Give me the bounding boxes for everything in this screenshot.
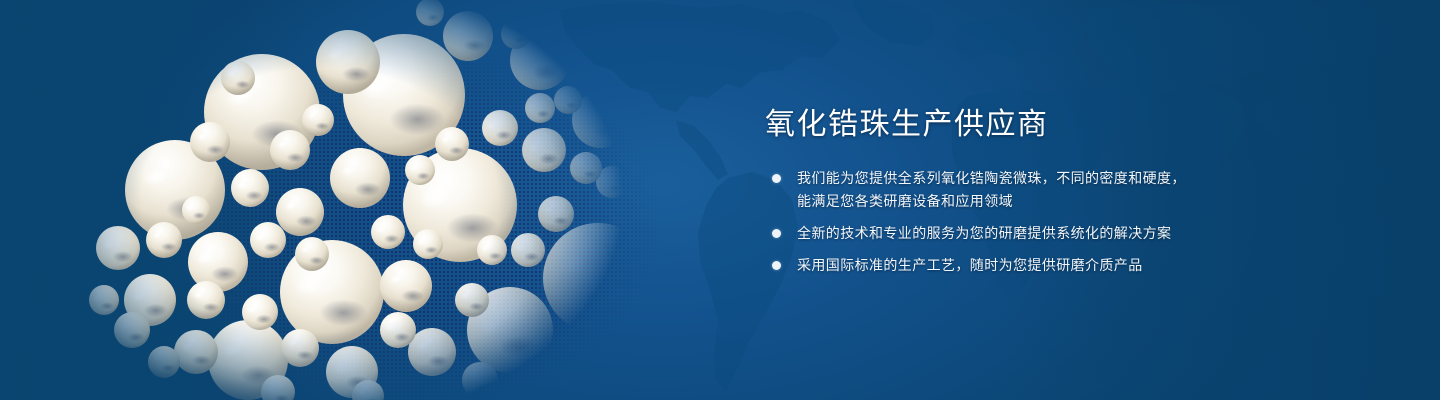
feature-line: 能满足您各类研磨设备和应用领域 — [797, 190, 1325, 213]
feature-line: 我们能为您提供全系列氧化锆陶瓷微珠，不同的密度和硬度， — [797, 167, 1325, 190]
feature-text: 采用国际标准的生产工艺，随时为您提供研磨介质产品 — [797, 254, 1325, 277]
feature-line: 采用国际标准的生产工艺，随时为您提供研磨介质产品 — [797, 254, 1325, 277]
bullet-dot-icon — [772, 174, 781, 183]
feature-item: 全新的技术和专业的服务为您的研磨提供系统化的解决方案 — [765, 222, 1325, 245]
hero-banner: 氧化锆珠生产供应商 我们能为您提供全系列氧化锆陶瓷微珠，不同的密度和硬度， 能满… — [0, 0, 1440, 400]
banner-feature-list: 我们能为您提供全系列氧化锆陶瓷微珠，不同的密度和硬度， 能满足您各类研磨设备和应… — [765, 167, 1325, 277]
feature-text: 全新的技术和专业的服务为您的研磨提供系统化的解决方案 — [797, 222, 1325, 245]
bullet-dot-icon — [772, 261, 781, 270]
banner-headline: 氧化锆珠生产供应商 — [765, 105, 1325, 145]
bullet-dot-icon — [772, 229, 781, 238]
feature-line: 全新的技术和专业的服务为您的研磨提供系统化的解决方案 — [797, 222, 1325, 245]
zirconia-bead-cluster-image — [0, 0, 760, 400]
feature-item: 我们能为您提供全系列氧化锆陶瓷微珠，不同的密度和硬度， 能满足您各类研磨设备和应… — [765, 167, 1325, 213]
feature-item: 采用国际标准的生产工艺，随时为您提供研磨介质产品 — [765, 254, 1325, 277]
banner-copy: 氧化锆珠生产供应商 我们能为您提供全系列氧化锆陶瓷微珠，不同的密度和硬度， 能满… — [765, 105, 1325, 277]
feature-text: 我们能为您提供全系列氧化锆陶瓷微珠，不同的密度和硬度， 能满足您各类研磨设备和应… — [797, 167, 1325, 213]
